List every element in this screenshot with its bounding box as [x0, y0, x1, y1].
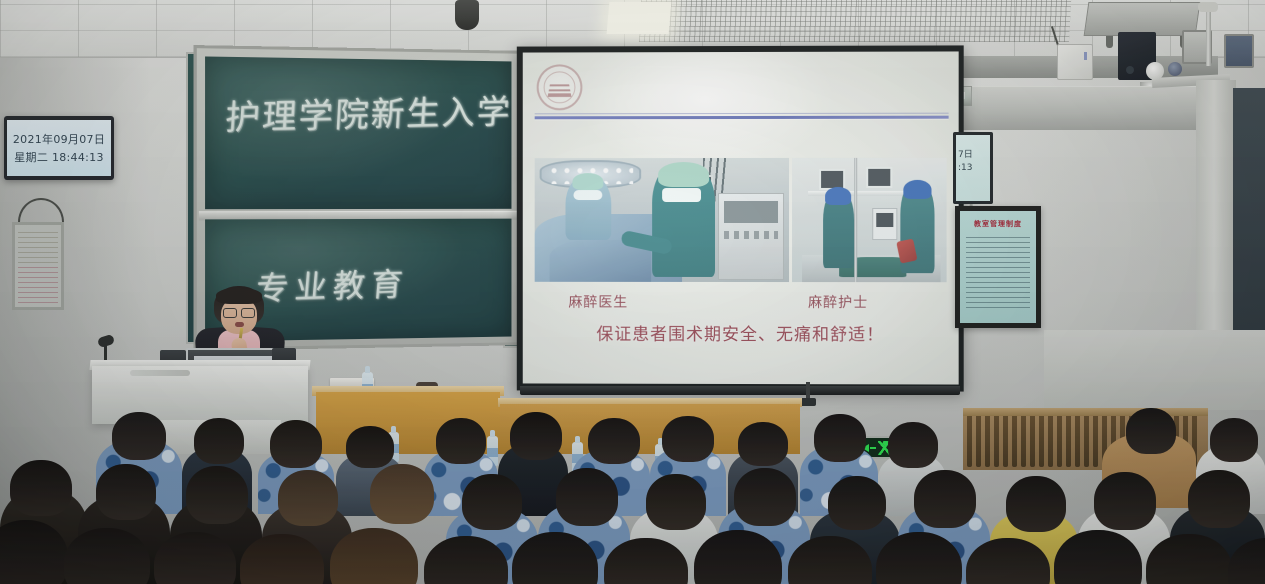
audience-head: [194, 418, 244, 464]
audience-head: [186, 466, 248, 524]
university-seal-icon: [537, 64, 583, 110]
audience-head: [1094, 472, 1156, 530]
audience-head: [462, 474, 522, 530]
audience-head: [370, 464, 434, 524]
audience-head: [510, 412, 562, 460]
blackboard-upper-surface: 护理学院新生入学: [205, 56, 511, 209]
audience-head: [270, 420, 322, 468]
audience-head: [556, 468, 618, 526]
slide-photo-operating-room: [535, 158, 790, 282]
glasses-icon: [223, 308, 255, 316]
ceiling-speaker-icon: [455, 0, 479, 30]
audience-head: [96, 464, 156, 520]
wall-vent: [1224, 34, 1254, 68]
wall-fitting: [1146, 62, 1164, 80]
audience: [0, 404, 1265, 584]
slide-surface: 麻醉医生 麻醉护士 保证患者围术期安全、无痛和舒适！: [523, 51, 959, 384]
audience-head: [888, 422, 938, 468]
lectern-items: [130, 370, 190, 376]
notice-board-title: 教室管理制度: [966, 219, 1030, 229]
clock-date-fragment: 7日: [958, 149, 990, 162]
wall-clock-display-right: 7日 :13: [953, 132, 993, 204]
clock-time-fragment: :13: [958, 162, 990, 175]
audience-head: [914, 470, 976, 528]
slide-divider-thin: [535, 113, 949, 115]
audience-head: [738, 422, 788, 466]
audience-head: [436, 418, 486, 464]
screen-bottom-rail: [520, 386, 960, 395]
audience-head: [588, 418, 640, 464]
audience-head: [814, 414, 866, 462]
audience-head: [662, 416, 714, 462]
slide-divider: [535, 116, 949, 120]
slide-caption-left: 麻醉医生: [568, 292, 628, 312]
notice-paper-pink: [18, 265, 58, 303]
wall-fitting: [1168, 62, 1182, 76]
ceiling-pipe: [1206, 4, 1211, 66]
notice-board-right: 教室管理制度: [955, 206, 1041, 328]
ceiling-mesh-panel: [639, 0, 1071, 42]
blackboard-heading-line1: 护理学院新生入学: [224, 85, 513, 140]
wall-clock-display: 2021年09月07日 星期二 18:44:13: [4, 116, 114, 180]
audience-head: [10, 460, 72, 516]
audience-head: [1006, 476, 1066, 532]
clock-time-text: 星期二 18:44:13: [14, 149, 104, 165]
slide-photo-row: [535, 158, 947, 282]
notice-board-body-text: [966, 234, 1030, 308]
audience-head: [734, 468, 796, 526]
notice-board-left: [12, 222, 64, 310]
projection-screen: 麻醉医生 麻醉护士 保证患者围术期安全、无痛和舒适！: [517, 45, 964, 391]
audience-head: [1188, 470, 1250, 528]
slide-headline: 保证患者围术期安全、无痛和舒适！: [523, 320, 959, 346]
audience-head: [828, 476, 886, 530]
slide-caption-right: 麻醉护士: [808, 292, 868, 312]
audience-head: [346, 426, 394, 468]
audience-head: [112, 412, 166, 460]
audience-head: [1210, 418, 1258, 462]
ceiling-panel-light: [607, 2, 672, 34]
audience-head: [278, 470, 338, 526]
slide-photo-anesthesia-nurses: [792, 158, 946, 282]
wall-panel-right: [1044, 330, 1265, 410]
clock-date-text: 2021年09月07日: [13, 131, 105, 147]
audience-head: [646, 474, 706, 530]
pipe-cap: [1198, 2, 1218, 12]
audience-head: [1126, 408, 1176, 454]
wall-access-point: [1057, 44, 1093, 80]
projector-mount-leg: [1106, 36, 1113, 48]
notice-paper-cream: [18, 228, 58, 263]
lecture-hall-photo: 护理学院新生入学 专业教育: [0, 0, 1265, 584]
slide-captions: 麻醉医生 麻醉护士: [523, 292, 959, 317]
